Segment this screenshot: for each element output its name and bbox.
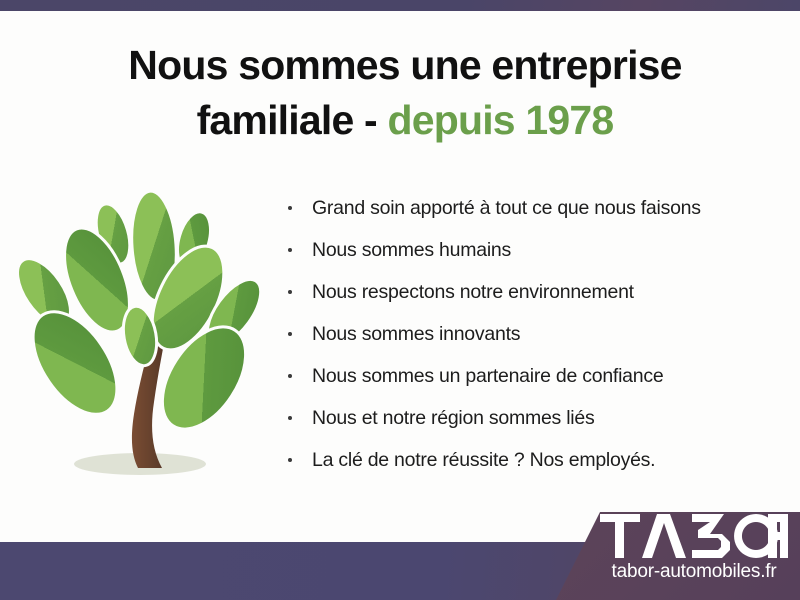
list-item-label: Nous respectons notre environnement bbox=[312, 281, 634, 303]
bullet-dot bbox=[288, 374, 292, 378]
bullet-dot bbox=[288, 290, 292, 294]
list-item-label: Nous sommes innovants bbox=[312, 323, 520, 345]
list-item-label: Nous et notre région sommes liés bbox=[312, 407, 594, 429]
list-item-label: Grand soin apporté à tout ce que nous fa… bbox=[312, 197, 701, 219]
page-title: Nous sommes une entreprise familiale - d… bbox=[60, 38, 750, 147]
value-list: Grand soin apporté à tout ce que nous fa… bbox=[286, 193, 786, 487]
bullet-dot bbox=[288, 248, 292, 252]
brand-url: tabor-automobiles.fr bbox=[600, 561, 788, 583]
list-item-label: Nous sommes humains bbox=[312, 239, 511, 261]
list-item-label: Nous sommes un partenaire de confiance bbox=[312, 365, 663, 387]
list-item: Grand soin apporté à tout ce que nous fa… bbox=[286, 193, 786, 235]
top-accent-bar bbox=[0, 0, 800, 11]
page-title-line2: familiale - bbox=[197, 97, 377, 143]
tabor-logo bbox=[600, 514, 788, 558]
list-item: Nous et notre région sommes liés bbox=[286, 403, 786, 445]
bullet-dot bbox=[288, 332, 292, 336]
list-item: La clé de notre réussite ? Nos employés. bbox=[286, 445, 786, 487]
slide-canvas: Nous sommes une entreprise familiale - d… bbox=[0, 0, 800, 600]
list-item: Nous sommes un partenaire de confiance bbox=[286, 361, 786, 403]
page-title-accent: depuis 1978 bbox=[387, 97, 613, 143]
bullet-dot bbox=[288, 458, 292, 462]
list-item: Nous sommes innovants bbox=[286, 319, 786, 361]
list-item-label: La clé de notre réussite ? Nos employés. bbox=[312, 449, 655, 471]
page-title-line1: Nous sommes une entreprise bbox=[128, 42, 681, 88]
list-item: Nous respectons notre environnement bbox=[286, 277, 786, 319]
bullet-dot bbox=[288, 416, 292, 420]
tree-illustration bbox=[12, 188, 268, 488]
bullet-dot bbox=[288, 206, 292, 210]
list-item: Nous sommes humains bbox=[286, 235, 786, 277]
